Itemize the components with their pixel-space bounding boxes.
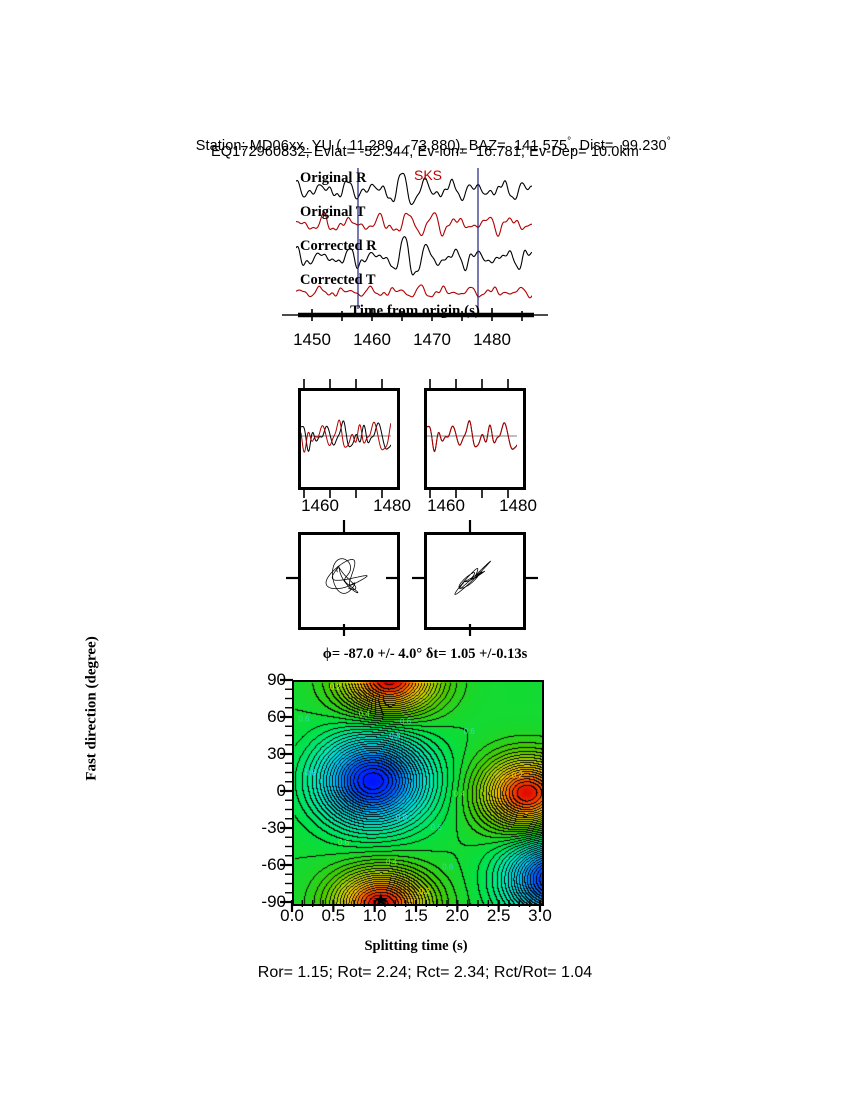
contour-x-axis-label: Splitting time (s) [292, 938, 540, 955]
splitting-analysis-figure: Station: MD06xx_YU ( 11.280, -73.880), B… [0, 0, 850, 1100]
contour-level-label: 0.6 [431, 823, 443, 832]
mid-panel-ticks-bottom [288, 485, 530, 493]
contour-plot-title: ϕ= -87.0 +/- 4.0° δt= 1.05 +/-0.13s [230, 646, 620, 663]
contour-level-label: 0.4 [454, 790, 466, 799]
contour-level-label: 0.6 [298, 714, 310, 723]
trace-label-corrected-t: Corrected T [300, 272, 376, 289]
fast-slow-waveform-panel-uncorrected [298, 388, 400, 490]
time-tick-1470: 1470 [413, 330, 451, 350]
time-tick-1460: 1460 [353, 330, 391, 350]
time-tick-1450: 1450 [293, 330, 331, 350]
mid-panel-ticks-top [288, 376, 530, 384]
time-axis [280, 308, 550, 322]
wbox1-svg [301, 391, 391, 481]
contour-x-axis-ticks [290, 900, 544, 914]
mid-right-tick-1460: 1460 [427, 496, 465, 516]
contour-level-label: 0.4 [386, 858, 398, 867]
wbox2-svg [427, 391, 517, 481]
particle-motion-ticks-bottom [286, 622, 538, 636]
time-axis-tick-labels: 1450 1460 1470 1480 [260, 330, 570, 352]
quality-metrics-footer: Ror= 1.15; Rot= 2.24; Rct= 2.34; Rct/Rot… [0, 964, 850, 982]
trace-label-original-r: Original R [300, 170, 366, 187]
contour-level-label: 0.6 [442, 862, 454, 871]
mid-panel-tick-labels: 1460 1480 1460 1480 [288, 496, 530, 518]
contour-y-axis-label: Fast direction (degree) [84, 599, 101, 819]
contour-level-label: 0.2 [330, 682, 342, 691]
error-surface-contour-plot: 0.20.40.60.80.60.60.80.20.40.80.60.60.40… [292, 680, 544, 906]
contour-level-label: 0.8 [389, 732, 401, 741]
trace-label-corrected-r: Corrected R [300, 238, 377, 255]
contour-level-label: 0.2 [419, 887, 431, 896]
contour-level-label: 0.2 [512, 771, 524, 780]
fast-slow-waveform-panel-corrected [424, 388, 526, 490]
time-tick-1480: 1480 [473, 330, 511, 350]
particle-motion-ticks-top [286, 520, 538, 534]
contour-overlay: 0.20.40.60.80.60.60.80.20.40.80.60.60.40… [294, 682, 542, 904]
contour-y-axis-ticks [278, 678, 294, 904]
contour-level-label: 0.8 [396, 813, 408, 822]
particle-motion-axis-ticks [286, 570, 538, 586]
mid-right-tick-1480: 1480 [499, 496, 537, 516]
contour-level-label: 0.8 [305, 769, 317, 778]
mid-left-tick-1460: 1460 [301, 496, 339, 516]
header-event-line: EQ172960832; Evlat= -52.344, Ev-lon= 16.… [0, 144, 850, 160]
trace-label-original-t: Original T [300, 204, 365, 221]
contour-level-label: 0.4 [359, 710, 371, 719]
contour-level-label: 0.6 [464, 727, 476, 736]
mid-left-tick-1480: 1480 [373, 496, 411, 516]
contour-level-label: 0.6 [400, 717, 412, 726]
contour-level-label: 0.6 [338, 838, 350, 847]
sks-phase-label: SKS [414, 167, 442, 183]
